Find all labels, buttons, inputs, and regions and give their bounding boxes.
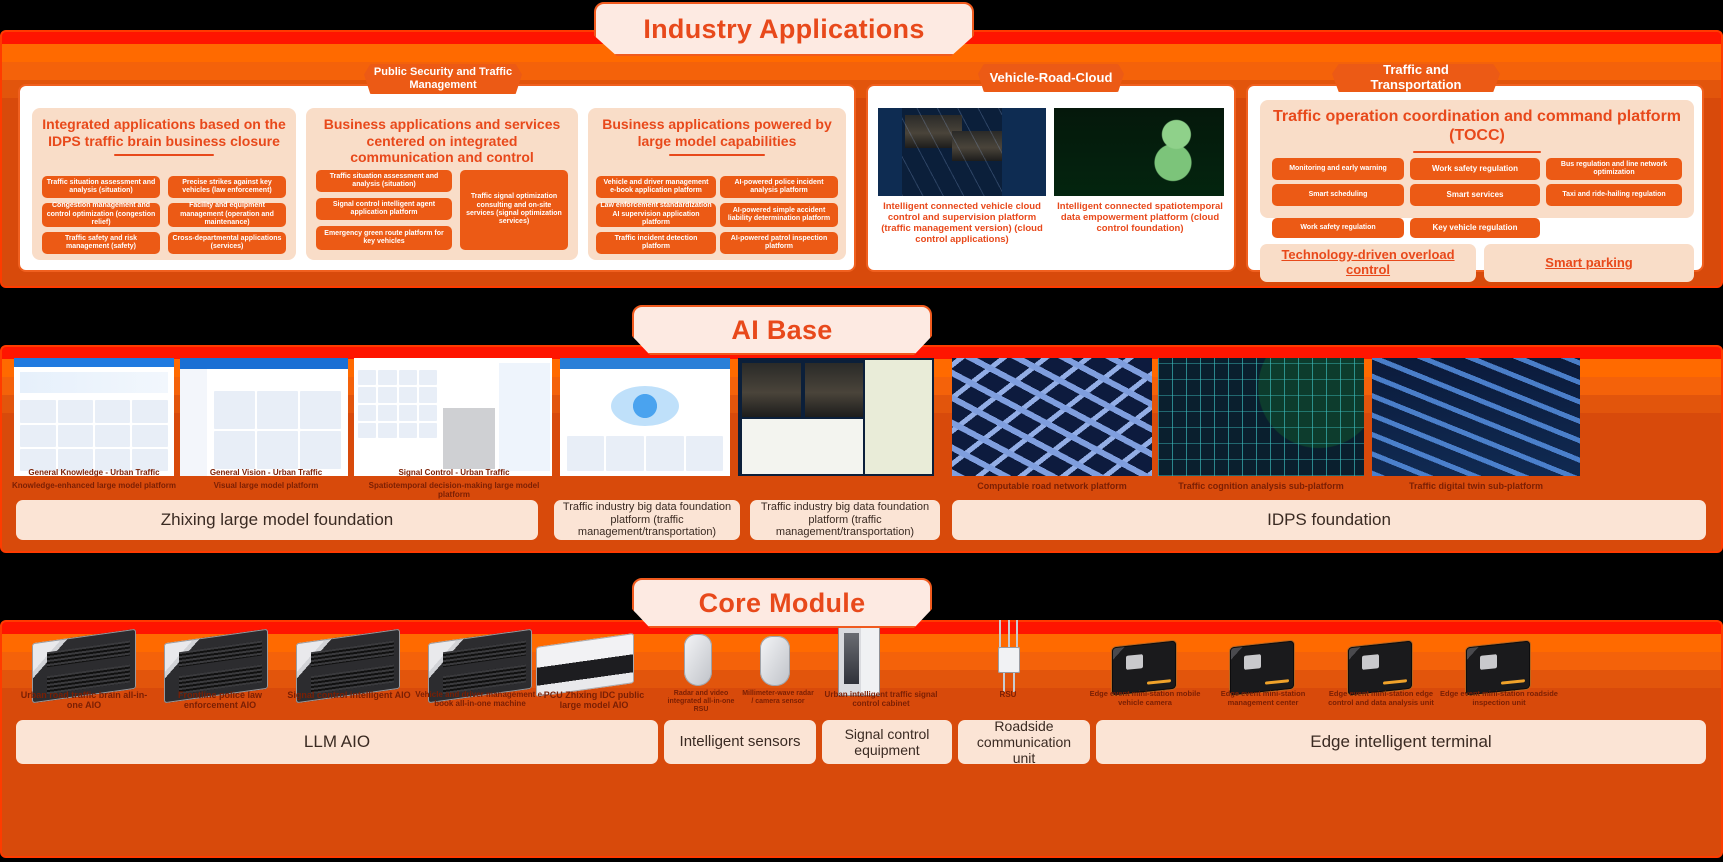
ai-cap-roadnet: Computable road network platform bbox=[952, 481, 1152, 491]
large-model-group: Business applications powered by large m… bbox=[588, 108, 846, 260]
ai-thumb-knowledge bbox=[14, 358, 174, 476]
integrated-comm-group: Business applications and services cente… bbox=[306, 108, 578, 260]
chip-police-incident[interactable]: AI-powered police incident analysis plat… bbox=[720, 176, 838, 198]
device-signal-cabinet bbox=[838, 624, 880, 696]
device-cap-3: Signal control intelligent AIO bbox=[284, 690, 414, 700]
device-edge-mgmt-center bbox=[1230, 644, 1294, 692]
idps-group-title: Integrated applications based on the IDP… bbox=[32, 108, 296, 149]
vrc-caption-1: Intelligent connected vehicle cloud cont… bbox=[876, 202, 1048, 246]
ai-cap-knowledge-bottom: Knowledge-enhanced large model platform bbox=[10, 481, 178, 490]
ai-cap-signal-top: Signal Control - Urban Traffic bbox=[356, 468, 552, 477]
chip-congestion[interactable]: Congestion management and control optimi… bbox=[42, 203, 160, 227]
device-radar-video-rsu bbox=[684, 634, 712, 686]
chip-bus-regulation[interactable]: Bus regulation and line network optimiza… bbox=[1546, 158, 1682, 180]
core-footer-sensors[interactable]: Intelligent sensors bbox=[664, 720, 816, 764]
device-cap-9: RSU bbox=[980, 690, 1036, 699]
ai-thumb-bigdata-2 bbox=[738, 358, 934, 476]
ai-footer-idps[interactable]: IDPS foundation bbox=[952, 500, 1706, 540]
ai-thumb-signal bbox=[354, 358, 552, 476]
tocc-group: Traffic operation coordination and comma… bbox=[1260, 100, 1694, 218]
ai-cap-cognition: Traffic cognition analysis sub-platform bbox=[1158, 481, 1364, 491]
integrated-comm-title: Business applications and services cente… bbox=[306, 108, 578, 166]
device-mmwave-sensor bbox=[760, 636, 790, 686]
device-cap-12: Edge event mini-station edge control and… bbox=[1322, 690, 1440, 707]
device-signal-aio bbox=[296, 636, 400, 696]
device-cap-11: Edge event mini-station management cente… bbox=[1204, 690, 1322, 707]
chip-accident-liability[interactable]: AI-powered simple accident liability det… bbox=[720, 203, 838, 227]
chip-law-standardization[interactable]: Law enforcement standardization AI super… bbox=[596, 203, 716, 227]
device-cap-8: Urban intelligent traffic signal control… bbox=[818, 690, 944, 708]
chip-precise-strikes[interactable]: Precise strikes against key vehicles (la… bbox=[168, 176, 286, 198]
device-cap-13: Edge event mini-station roadside inspect… bbox=[1440, 690, 1558, 707]
chip-facility[interactable]: Facility and equipment management (opera… bbox=[168, 203, 286, 227]
ai-cap-knowledge-top: General Knowledge - Urban Traffic bbox=[10, 468, 178, 477]
core-footer-edge-terminal[interactable]: Edge intelligent terminal bbox=[1096, 720, 1706, 764]
device-cap-2: Frontline police law enforcement AIO bbox=[150, 690, 290, 711]
tab-vehicle-road-cloud[interactable]: Vehicle-Road-Cloud bbox=[978, 64, 1124, 92]
idps-rule bbox=[114, 154, 214, 156]
chip-incident-detection[interactable]: Traffic incident detection platform bbox=[596, 232, 716, 254]
device-cap-6: Radar and video integrated all-in-one RS… bbox=[664, 690, 738, 714]
vehicle-road-cloud-card: Intelligent connected vehicle cloud cont… bbox=[866, 84, 1236, 272]
chip-monitoring-warning[interactable]: Monitoring and early warning bbox=[1272, 158, 1404, 180]
device-rsu bbox=[992, 620, 1026, 692]
core-module-title: Core Module bbox=[699, 588, 866, 619]
core-footer-signal-control[interactable]: Signal control equipment bbox=[822, 720, 952, 764]
vrc-thumb-1 bbox=[878, 108, 1046, 196]
chip-key-vehicle[interactable]: Key vehicle regulation bbox=[1410, 218, 1540, 238]
ai-thumb-vision bbox=[180, 358, 348, 476]
public-security-card: Integrated applications based on the IDP… bbox=[18, 84, 856, 272]
industry-applications-banner: Industry Applications bbox=[594, 2, 974, 56]
chip-traffic-situation[interactable]: Traffic situation assessment and analysi… bbox=[42, 176, 160, 198]
ai-footer-bigdata-1[interactable]: Traffic industry big data foundation pla… bbox=[554, 500, 740, 540]
vrc-thumb-2 bbox=[1054, 108, 1224, 196]
device-edge-roadside-unit bbox=[1466, 644, 1530, 692]
ai-thumb-bigdata-1 bbox=[560, 358, 730, 476]
large-model-rule bbox=[669, 154, 765, 156]
ai-cap-vision-bottom: Visual large model platform bbox=[184, 481, 348, 490]
ai-thumb-twin bbox=[1372, 358, 1580, 476]
device-edge-mobile-camera bbox=[1112, 644, 1176, 692]
tab-traffic-transportation[interactable]: Traffic and Transportation bbox=[1332, 64, 1500, 92]
traffic-transportation-card: Traffic operation coordination and comma… bbox=[1246, 84, 1704, 272]
chip-signal-optimization-consulting[interactable]: Traffic signal optimization consulting a… bbox=[460, 170, 568, 250]
tocc-rule bbox=[1413, 151, 1541, 153]
ai-thumb-cognition bbox=[1158, 358, 1364, 476]
ai-cap-signal-bottom: Spatiotemporal decision-making large mod… bbox=[356, 481, 552, 499]
ai-cap-twin: Traffic digital twin sub-platform bbox=[1372, 481, 1580, 491]
chip-work-safety-2[interactable]: Work safety regulation bbox=[1272, 218, 1404, 238]
device-pcu-idc-aio bbox=[536, 640, 634, 690]
ai-thumb-roadnet bbox=[952, 358, 1152, 476]
device-cap-1: Urban road traffic brain all-in-one AIO bbox=[14, 690, 154, 711]
device-cap-7: Millimeter-wave radar / camera sensor bbox=[742, 690, 814, 706]
large-model-title: Business applications powered by large m… bbox=[588, 108, 846, 149]
device-cap-4: Vehicle and driver management e-book all… bbox=[410, 690, 550, 708]
ai-cap-vision-top: General Vision - Urban Traffic bbox=[184, 468, 348, 477]
device-cap-10: Edge event mini-station mobile vehicle c… bbox=[1086, 690, 1204, 707]
tab-public-security[interactable]: Public Security and Traffic Management bbox=[364, 64, 522, 94]
chip-signal-agent[interactable]: Signal control intelligent agent applica… bbox=[316, 198, 452, 220]
ai-footer-zhixing[interactable]: Zhixing large model foundation bbox=[16, 500, 538, 540]
industry-applications-title: Industry Applications bbox=[643, 14, 924, 45]
device-police-aio bbox=[164, 636, 268, 696]
device-urban-brain-aio bbox=[32, 636, 136, 696]
chip-taxi-regulation[interactable]: Taxi and ride-hailing regulation bbox=[1546, 184, 1682, 206]
idps-group: Integrated applications based on the IDP… bbox=[32, 108, 296, 260]
device-cap-5: PCU Zhixing IDC public large model AIO bbox=[534, 690, 654, 711]
vrc-caption-2: Intelligent connected spatiotemporal dat… bbox=[1052, 202, 1228, 235]
ai-base-title: AI Base bbox=[731, 315, 832, 346]
core-footer-roadside-unit[interactable]: Roadside communication unit bbox=[958, 720, 1090, 764]
footer-overload-control[interactable]: Technology-driven overload control bbox=[1260, 244, 1476, 282]
chip-ebook-platform[interactable]: Vehicle and driver management e-book app… bbox=[596, 176, 716, 198]
chip-green-route[interactable]: Emergency green route platform for key v… bbox=[316, 226, 452, 250]
chip-cross-dept[interactable]: Cross-departmental applications (service… bbox=[168, 232, 286, 254]
chip-smart-services[interactable]: Smart services bbox=[1410, 184, 1540, 206]
chip-patrol-inspection[interactable]: AI-powered patrol inspection platform bbox=[720, 232, 838, 254]
ai-footer-bigdata-2[interactable]: Traffic industry big data foundation pla… bbox=[750, 500, 940, 540]
footer-smart-parking[interactable]: Smart parking bbox=[1484, 244, 1694, 282]
ai-base-banner: AI Base bbox=[632, 305, 932, 355]
core-module-banner: Core Module bbox=[632, 578, 932, 628]
chip-smart-scheduling[interactable]: Smart scheduling bbox=[1272, 184, 1404, 206]
core-footer-llm-aio[interactable]: LLM AIO bbox=[16, 720, 658, 764]
architecture-diagram: Industry Applications Integrated applica… bbox=[0, 0, 1723, 862]
device-edge-control-unit bbox=[1348, 644, 1412, 692]
chip-situation-2[interactable]: Traffic situation assessment and analysi… bbox=[316, 170, 452, 192]
chip-traffic-safety[interactable]: Traffic safety and risk management (safe… bbox=[42, 232, 160, 254]
chip-work-safety-1[interactable]: Work safety regulation bbox=[1410, 158, 1540, 180]
tocc-title: Traffic operation coordination and comma… bbox=[1260, 100, 1694, 146]
device-ebook-aio bbox=[428, 636, 532, 696]
